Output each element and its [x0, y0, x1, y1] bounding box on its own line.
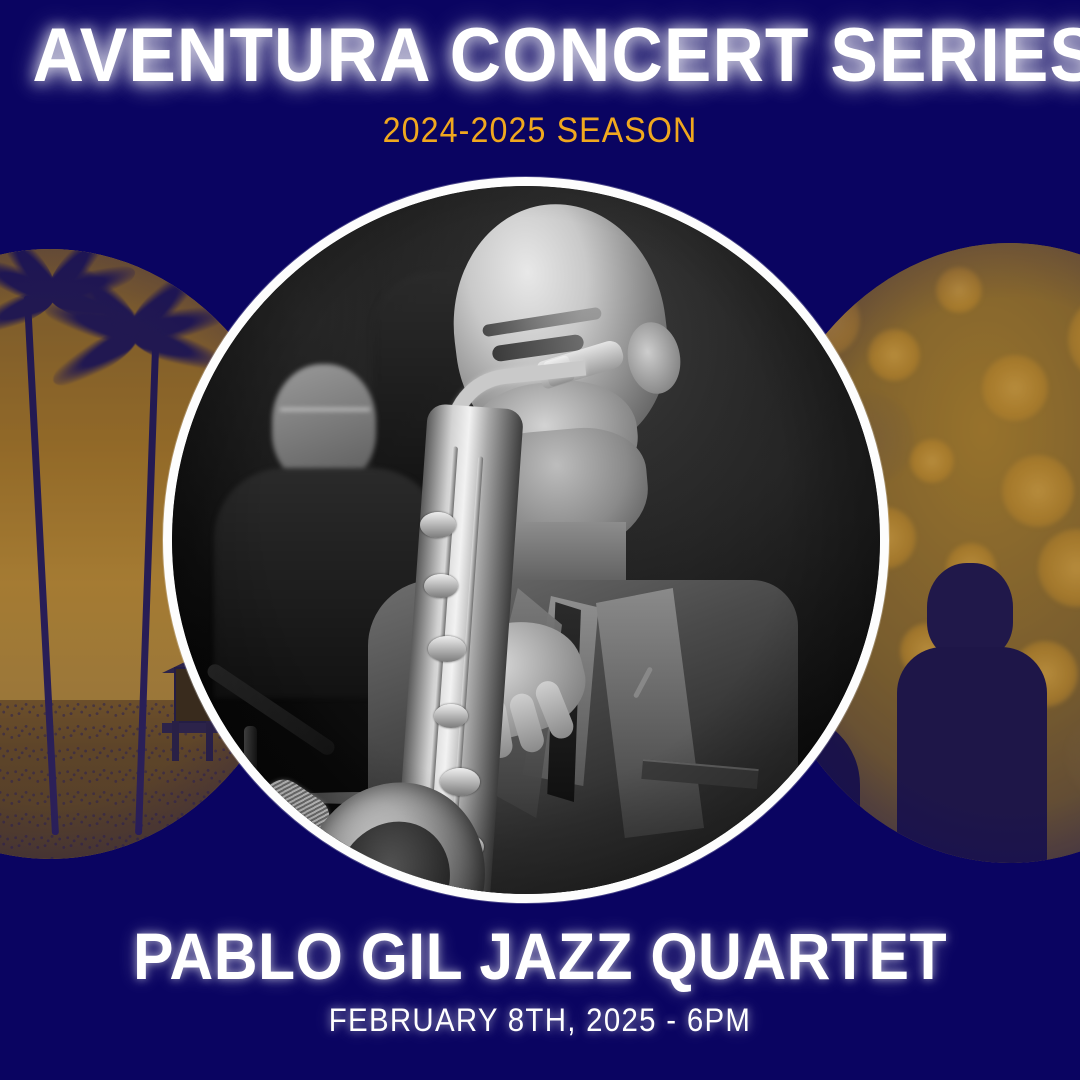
artist-name: PABLO GIL JAZZ QUARTET — [43, 923, 1037, 989]
bokeh-light — [910, 439, 954, 483]
bokeh-light — [936, 267, 982, 313]
microphone-stand — [244, 726, 257, 894]
saxophone — [292, 336, 652, 894]
silhouette-head — [927, 563, 1013, 659]
silhouette-body — [897, 647, 1047, 863]
season-subtitle: 2024-2025 SEASON — [43, 113, 1037, 148]
event-datetime: FEBRUARY 8TH, 2025 - 6PM — [43, 1004, 1037, 1036]
bokeh-light — [982, 355, 1048, 421]
page-title: AVENTURA CONCERT SERIES — [32, 18, 1047, 94]
saxophonist-photo — [163, 177, 889, 903]
crowd-silhouette — [875, 563, 1080, 863]
concert-poster: AVENTURA CONCERT SERIES 2024-2025 SEASON… — [0, 0, 1080, 1080]
bokeh-light — [1002, 455, 1074, 527]
saxophonist-photo-inner — [172, 186, 880, 894]
